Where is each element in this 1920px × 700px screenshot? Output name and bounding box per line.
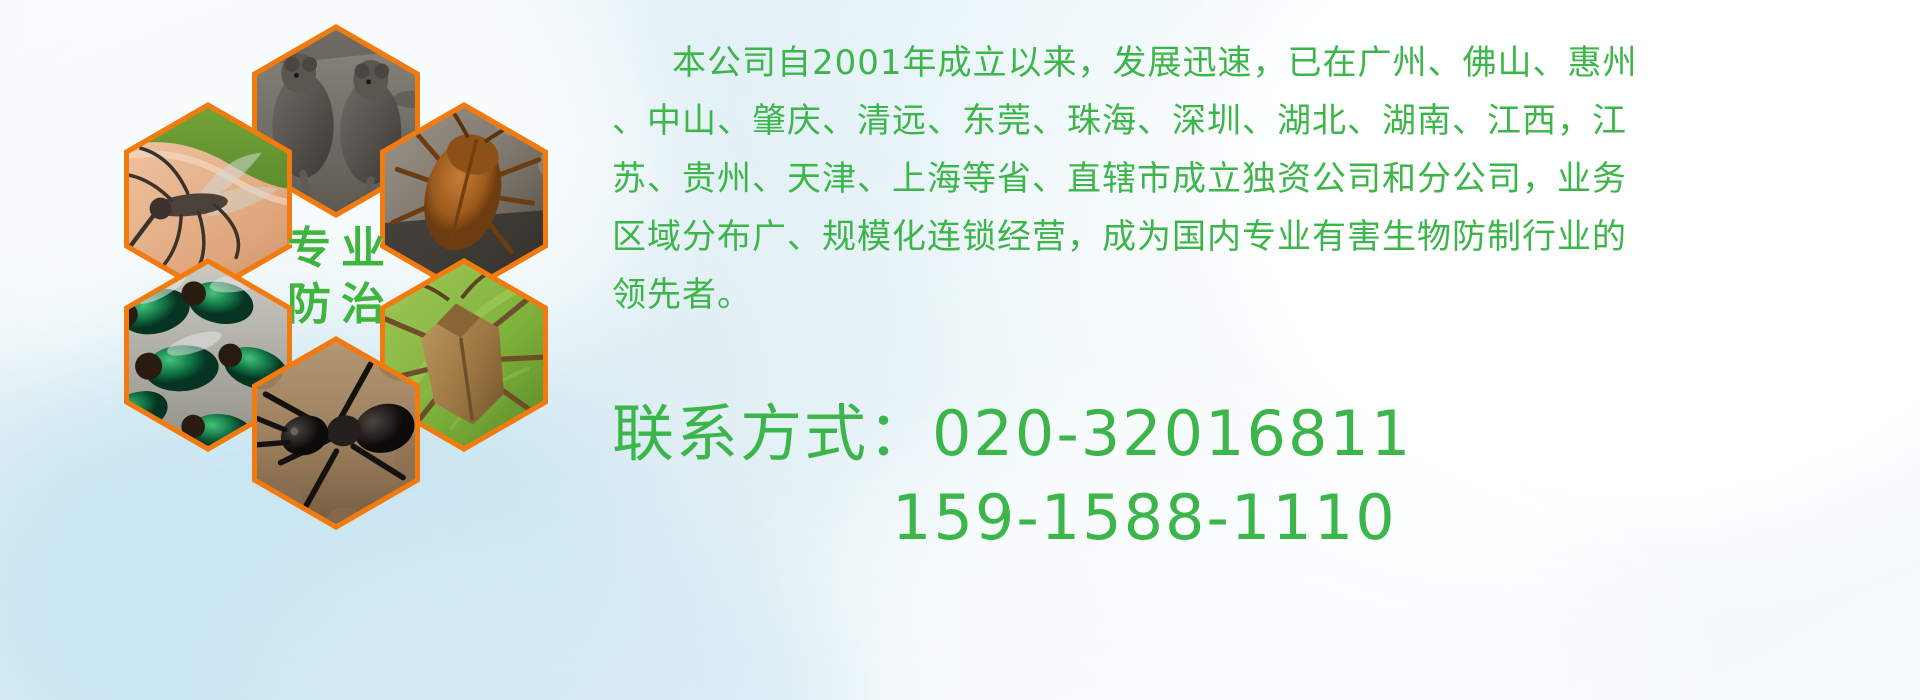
company-description: 本公司自2001年成立以来，发展迅速，已在广州、佛山、惠州 、中山、肇庆、清远、…	[612, 34, 1912, 324]
description-line-2: 、中山、肇庆、清远、东莞、珠海、深圳、湖北、湖南、江西，江	[612, 92, 1912, 150]
contact-block: 联系方式：020-32016811 159-1588-1110	[612, 392, 1912, 560]
ant-icon	[257, 342, 415, 524]
description-line-1: 本公司自2001年成立以来，发展迅速，已在广州、佛山、惠州	[612, 34, 1912, 92]
contact-phone-landline[interactable]: 联系方式：020-32016811	[612, 392, 1912, 476]
slogan-line-1: 专业	[277, 221, 395, 277]
description-line-3: 苏、贵州、天津、上海等省、直辖市成立独资公司和分公司，业务	[612, 150, 1912, 208]
hex-photo-ant-inner	[257, 342, 415, 524]
promo-banner: 专业 防治	[0, 0, 1920, 700]
description-line-4: 区域分布广、规模化连锁经营，成为国内专业有害生物防制行业的	[612, 208, 1912, 266]
description-line-5: 领先者。	[612, 266, 1912, 324]
slogan-line-2: 防治	[277, 277, 395, 333]
hex-photo-collage: 专业 防治	[84, 6, 584, 566]
contact-phone-mobile[interactable]: 159-1588-1110	[612, 476, 1912, 560]
